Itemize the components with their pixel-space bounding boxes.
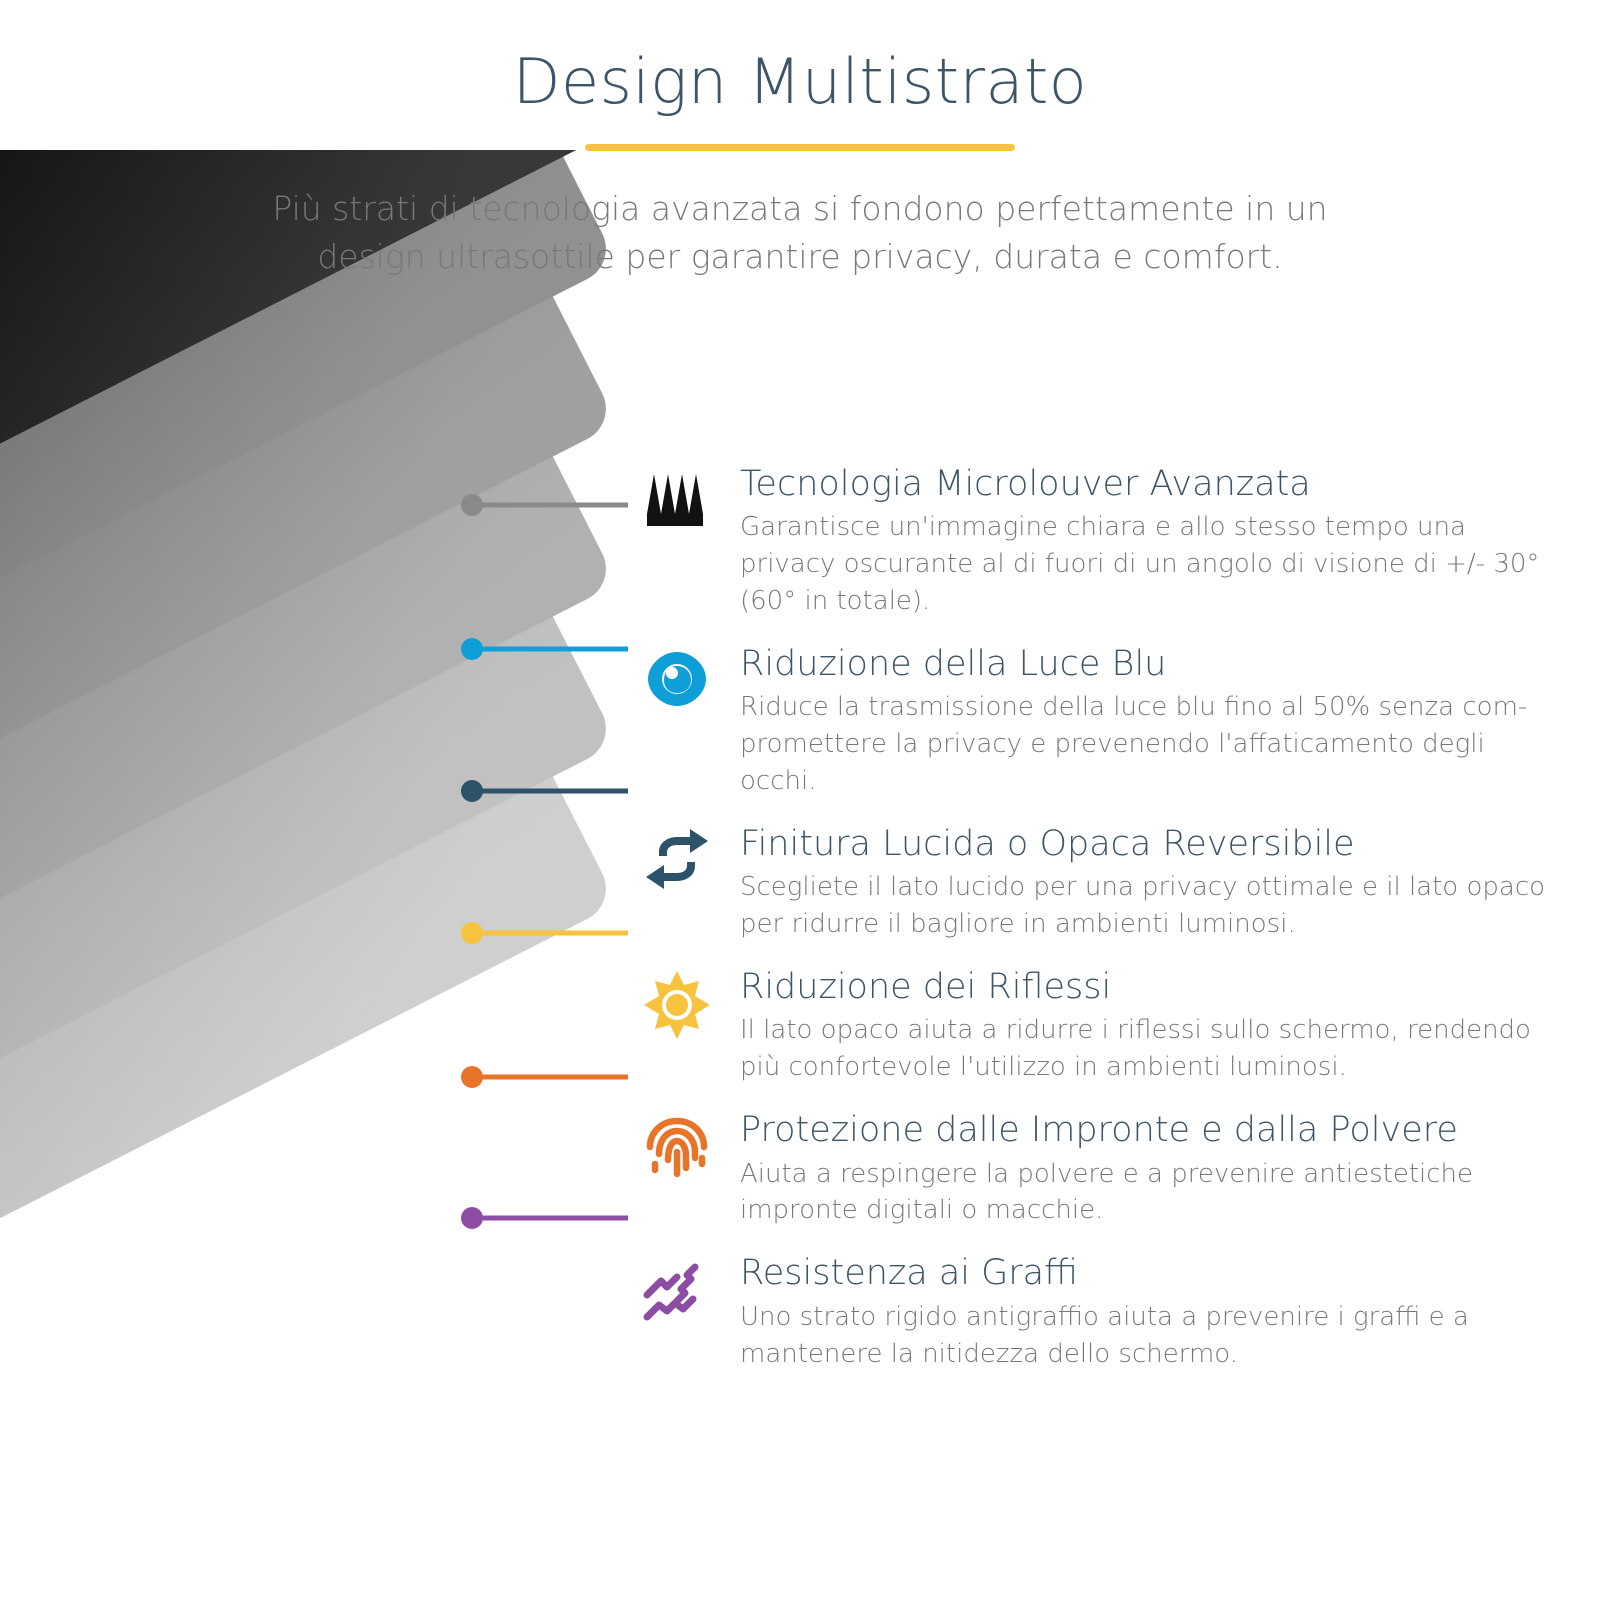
feature-description: Uno strato rigido antigraffio aiuta a pr… — [740, 1299, 1560, 1373]
feature-title: Resistenza ai Graffi — [740, 1253, 1560, 1294]
header: Design Multistrato Più strati di tecnolo… — [0, 0, 1600, 281]
fingerprint-icon — [640, 1108, 714, 1182]
feature-title: Tecnologia Microlouver Avanzata — [740, 464, 1560, 505]
page-subtitle: Più strati di tecnologia avanzata si fon… — [260, 185, 1340, 281]
feature-description: Il lato opaco aiuta a ridurre i riflessi… — [740, 1012, 1560, 1086]
microlouver-comb-icon — [640, 462, 714, 536]
feature-title: Riduzione dei Riflessi — [740, 967, 1560, 1008]
layered-screen-illustration — [0, 150, 670, 1580]
feature-text-scratch: Resistenza ai Graffi Uno strato rigido a… — [714, 1251, 1560, 1372]
feature-description: Aiuta a respingere la polvere e a preven… — [740, 1156, 1560, 1230]
feature-item-microlouver: Tecnologia Microlouver Avanzata Garantis… — [640, 462, 1580, 620]
feature-description: Riduce la trasmissione della luce blu fi… — [740, 689, 1560, 800]
feature-item-blue-light: Riduzione della Luce Blu Riduce la trasm… — [640, 642, 1580, 800]
feature-text-blue-light: Riduzione della Luce Blu Riduce la trasm… — [714, 642, 1560, 800]
sun-icon — [640, 965, 714, 1039]
feature-title: Riduzione della Luce Blu — [740, 644, 1560, 685]
feature-list: Tecnologia Microlouver Avanzata Garantis… — [640, 462, 1580, 1372]
infographic-canvas: Design Multistrato Più strati di tecnolo… — [0, 0, 1600, 1600]
feature-item-fingerprint: Protezione dalle Impronte e dalla Polver… — [640, 1108, 1580, 1229]
scratch-lines-icon — [640, 1251, 714, 1325]
feature-description: Garantisce un'immagine chiara e allo ste… — [740, 509, 1560, 620]
feature-description: Scegliete il lato lucido per una privacy… — [740, 869, 1560, 943]
feature-text-microlouver: Tecnologia Microlouver Avanzata Garantis… — [714, 462, 1560, 620]
feature-text-fingerprint: Protezione dalle Impronte e dalla Polver… — [714, 1108, 1560, 1229]
feature-item-scratch: Resistenza ai Graffi Uno strato rigido a… — [640, 1251, 1580, 1372]
feature-text-glare: Riduzione dei Riflessi Il lato opaco aiu… — [714, 965, 1560, 1086]
feature-item-glare: Riduzione dei Riflessi Il lato opaco aiu… — [640, 965, 1580, 1086]
eye-icon — [640, 642, 714, 716]
feature-item-reversible: Finitura Lucida o Opaca Reversibile Sceg… — [640, 822, 1580, 943]
feature-title: Finitura Lucida o Opaca Reversibile — [740, 824, 1560, 865]
feature-text-reversible: Finitura Lucida o Opaca Reversibile Sceg… — [714, 822, 1560, 943]
reversible-arrows-icon — [640, 822, 714, 896]
title-underline-rule — [585, 144, 1015, 151]
feature-title: Protezione dalle Impronte e dalla Polver… — [740, 1110, 1560, 1151]
page-title: Design Multistrato — [0, 0, 1600, 116]
